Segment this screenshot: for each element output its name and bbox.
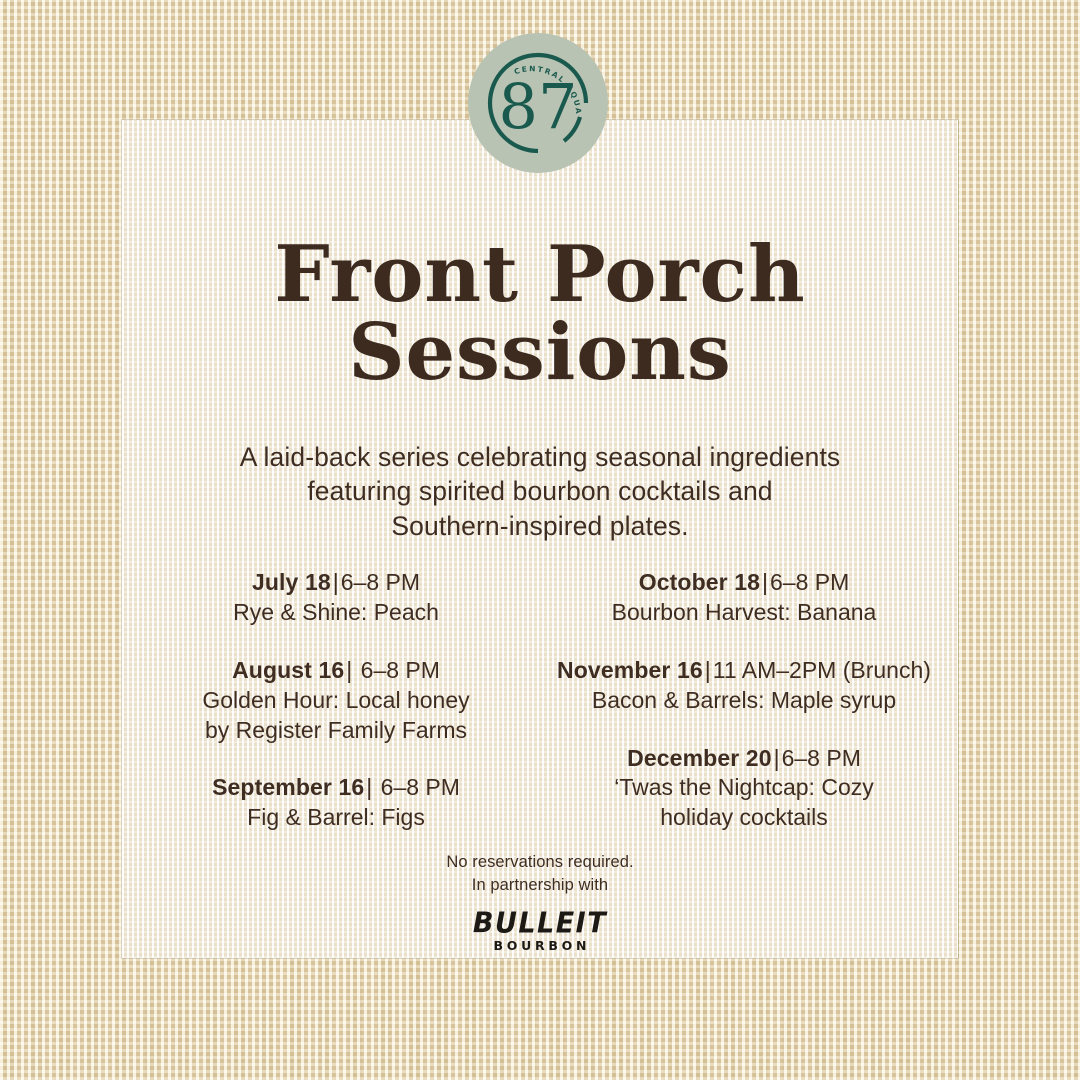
event-date: September 16 — [212, 774, 364, 800]
bulleit-subword: BOURBON — [160, 940, 920, 953]
event-headline: October 18|6–8 PM — [548, 568, 940, 598]
event-time: 6–8 PM — [770, 569, 849, 595]
event-date: August 16 — [232, 657, 344, 683]
event-headline: August 16| 6–8 PM — [140, 656, 532, 686]
event-date: November 16 — [557, 657, 703, 683]
event-time: 6–8 PM — [341, 569, 420, 595]
event-item: November 16|11 AM–2PM (Brunch) Bacon & B… — [548, 656, 940, 716]
event-date: December 20 — [627, 745, 771, 771]
event-time: 6–8 PM — [782, 745, 861, 771]
event-separator: | — [772, 745, 782, 771]
event-item: September 16| 6–8 PM Fig & Barrel: Figs — [140, 773, 532, 833]
poster-footer: No reservations required. In partnership… — [160, 851, 920, 952]
event-schedule: July 18|6–8 PM Rye & Shine: Peach August… — [140, 568, 940, 833]
event-headline: December 20|6–8 PM — [548, 744, 940, 774]
event-desc-line-1: Bacon & Barrels: Maple syrup — [548, 686, 940, 716]
event-desc-line-1: Rye & Shine: Peach — [140, 598, 532, 628]
event-separator: | — [344, 657, 354, 683]
event-desc-line-1: Golden Hour: Local honey — [140, 686, 532, 716]
footer-note: No reservations required. — [160, 851, 920, 874]
event-time: 6–8 PM — [374, 774, 460, 800]
poster-title: Front Porch Sessions — [0, 237, 1080, 392]
subtitle-line-2: featuring spirited bourbon cocktails and — [160, 474, 920, 508]
poster-subtitle: A laid-back series celebrating seasonal … — [160, 440, 920, 543]
event-item: July 18|6–8 PM Rye & Shine: Peach — [140, 568, 532, 628]
subtitle-line-1: A laid-back series celebrating seasonal … — [160, 440, 920, 474]
bulleit-wordmark: BULLEIT — [473, 909, 607, 938]
schedule-column-right: October 18|6–8 PM Bourbon Harvest: Banan… — [548, 568, 940, 833]
footer-partnership-label: In partnership with — [160, 874, 920, 897]
event-desc-line-1: Bourbon Harvest: Banana — [548, 598, 940, 628]
event-separator: | — [703, 657, 713, 683]
event-time: 11 AM–2PM (Brunch) — [713, 657, 931, 683]
event-headline: November 16|11 AM–2PM (Brunch) — [548, 656, 940, 686]
event-item: August 16| 6–8 PM Golden Hour: Local hon… — [140, 656, 532, 746]
event-desc-line-2: holiday cocktails — [548, 803, 940, 833]
event-separator: | — [331, 569, 341, 595]
poster-canvas: CENTRAL SQUARE 87 Front Porch Sessions A… — [0, 0, 1080, 1080]
event-desc-line-1: Fig & Barrel: Figs — [140, 803, 532, 833]
event-item: December 20|6–8 PM ‘Twas the Nightcap: C… — [548, 744, 940, 834]
event-time: 6–8 PM — [354, 657, 440, 683]
event-date: October 18 — [639, 569, 760, 595]
schedule-column-left: July 18|6–8 PM Rye & Shine: Peach August… — [140, 568, 532, 833]
event-date: July 18 — [252, 569, 331, 595]
event-desc-line-1: ‘Twas the Nightcap: Cozy — [548, 773, 940, 803]
subtitle-line-3: Southern-inspired plates. — [160, 509, 920, 543]
event-headline: September 16| 6–8 PM — [140, 773, 532, 803]
event-separator: | — [364, 774, 374, 800]
logo-number: 87 — [499, 70, 578, 143]
event-headline: July 18|6–8 PM — [140, 568, 532, 598]
title-line-1: Front Porch — [0, 237, 1080, 313]
bulleit-bourbon-logo: BULLEIT BOURBON — [160, 910, 920, 953]
title-line-2: Sessions — [0, 315, 1080, 391]
event-separator: | — [760, 569, 770, 595]
central-square-87-logo: CENTRAL SQUARE 87 — [468, 33, 608, 173]
event-desc-line-2: by Register Family Farms — [140, 716, 532, 746]
event-item: October 18|6–8 PM Bourbon Harvest: Banan… — [548, 568, 940, 628]
